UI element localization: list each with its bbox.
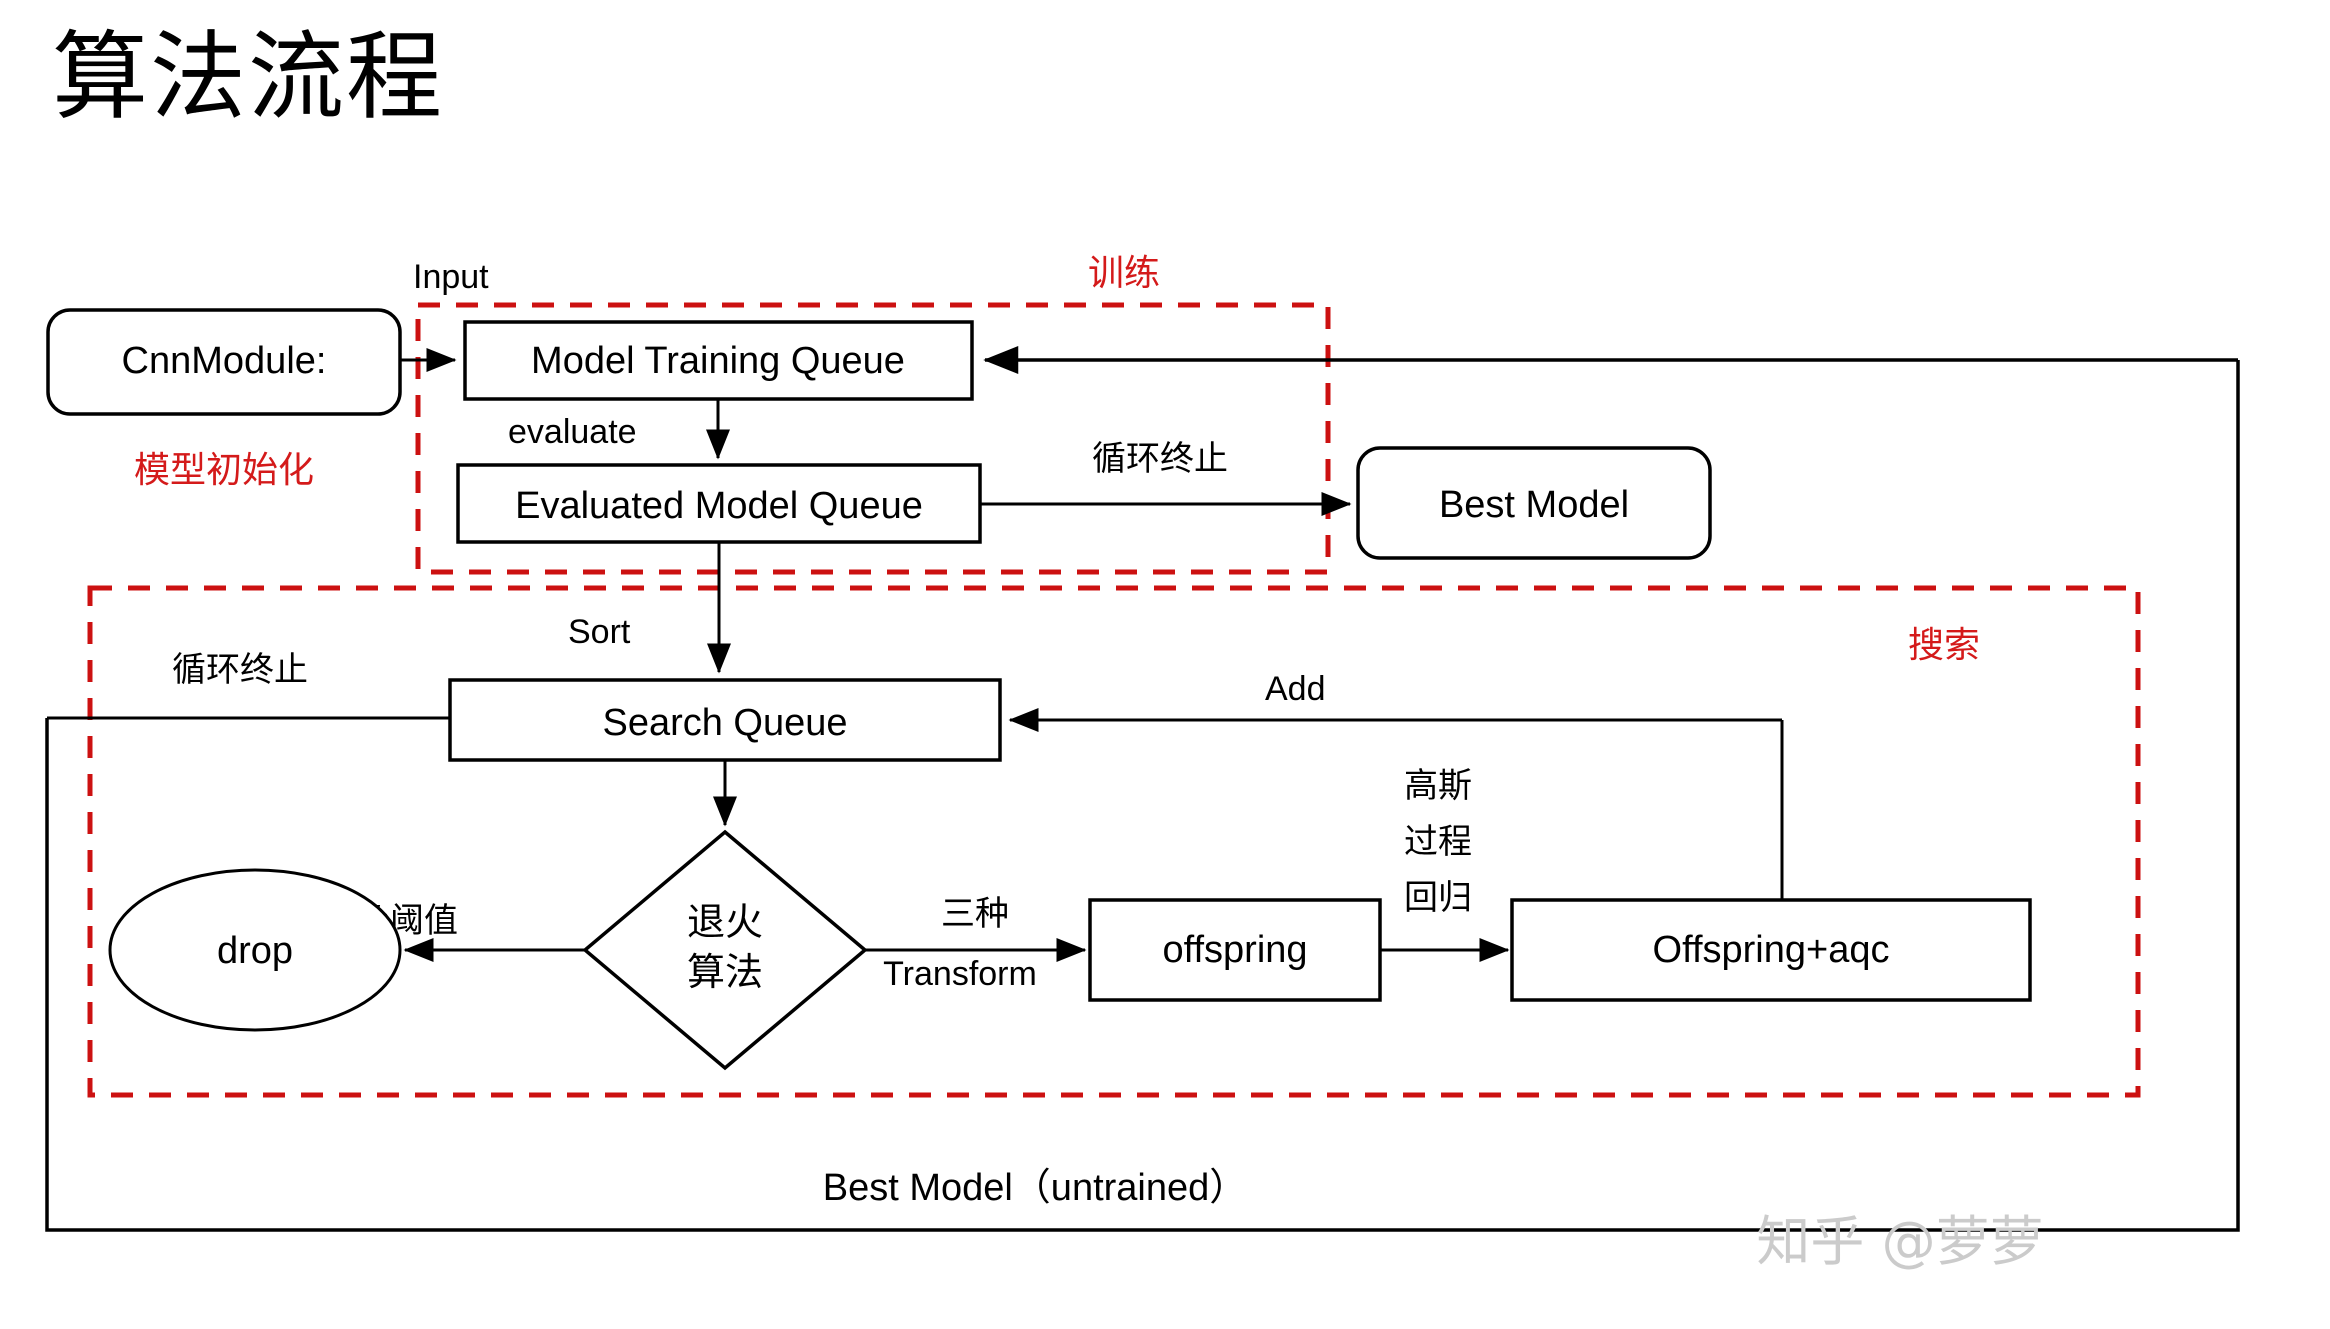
gpr-label-line3: 回归 — [1404, 879, 1472, 917]
add-edge-label: Add — [1265, 670, 1326, 708]
sort-edge-label: Sort — [568, 613, 631, 651]
offspring-aqc-label: Offspring+aqc — [1653, 929, 1890, 971]
flowchart-canvas: 训练 搜索 CnnModule: 模型初始化 Input Model Train… — [0, 0, 2330, 1329]
model-init-label: 模型初始化 — [134, 449, 314, 490]
best-model-untrained-feedback-path — [47, 360, 2238, 1230]
search-queue-label: Search Queue — [602, 702, 847, 744]
gpr-label-line1: 高斯 — [1404, 767, 1472, 805]
gpr-label-line2: 过程 — [1404, 823, 1472, 861]
three-kinds-label: 三种 — [941, 895, 1009, 933]
annealing-algorithm-label-line2: 算法 — [687, 952, 763, 994]
search-group-boundary — [90, 588, 2138, 1095]
evaluate-edge-label: evaluate — [508, 413, 637, 451]
model-training-queue-label: Model Training Queue — [531, 340, 905, 382]
best-model-untrained-label: Best Model（untrained） — [823, 1167, 1248, 1209]
annealing-algorithm-label-line1: 退火 — [687, 902, 763, 944]
input-edge-label: Input — [413, 258, 489, 296]
loop-terminate-top-label: 循环终止 — [1092, 440, 1228, 478]
watermark: 知乎 @萝萝 — [1756, 1210, 2043, 1273]
cnn-module-label: CnnModule: — [122, 340, 327, 382]
offspring-label: offspring — [1162, 929, 1307, 971]
training-group-label: 训练 — [1088, 252, 1160, 293]
transform-label: Transform — [883, 955, 1037, 993]
best-model-label: Best Model — [1439, 484, 1629, 526]
drop-label: drop — [217, 930, 293, 972]
annealing-algorithm-node[interactable] — [585, 832, 865, 1068]
loop-terminate-left-label: 循环终止 — [172, 651, 308, 689]
search-group-label: 搜索 — [1908, 624, 1980, 665]
evaluated-model-queue-label: Evaluated Model Queue — [515, 485, 923, 527]
